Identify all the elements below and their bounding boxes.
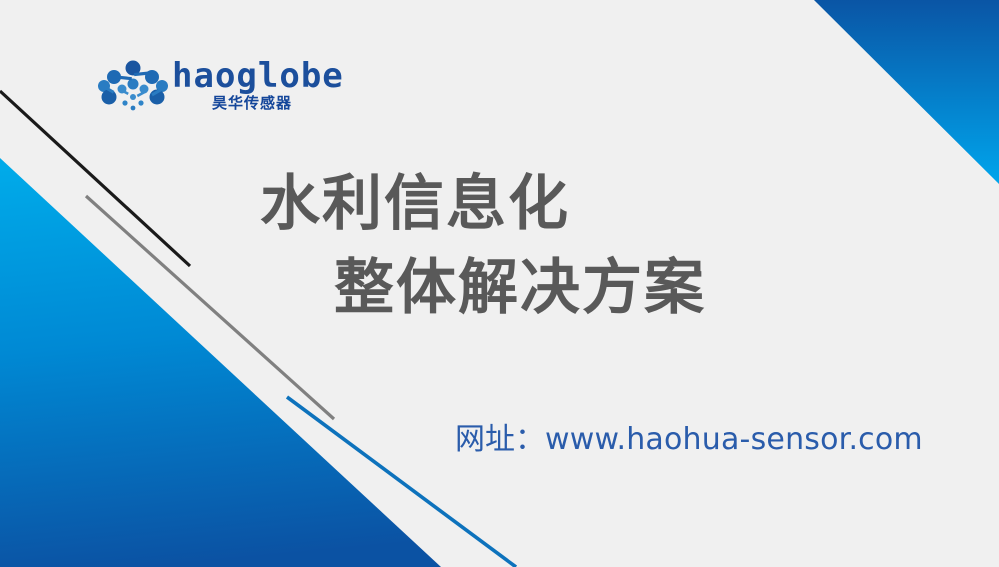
page-title-line-1: 水利信息化 xyxy=(0,162,920,246)
website-url[interactable]: www.haohua-sensor.com xyxy=(545,422,923,457)
brand-logo-text: haoglobe 昊华传感器 xyxy=(172,58,312,116)
title-slide: haoglobe 昊华传感器 水利信息化 整体解决方案 网址：www.haohu… xyxy=(0,0,999,567)
page-title-line-2: 整体解决方案 xyxy=(120,246,920,330)
page-title: 水利信息化 整体解决方案 xyxy=(0,162,920,330)
brand-wordmark: haoglobe xyxy=(172,58,344,94)
haoglobe-dot-cluster-logo xyxy=(98,60,168,116)
brand-logo[interactable]: haoglobe 昊华传感器 xyxy=(98,58,318,120)
top-right-triangle xyxy=(814,0,999,184)
brand-sub-wordmark: 昊华传感器 xyxy=(212,94,292,112)
website-label: 网址： xyxy=(455,422,545,457)
website-line: 网址：www.haohua-sensor.com xyxy=(455,420,923,460)
